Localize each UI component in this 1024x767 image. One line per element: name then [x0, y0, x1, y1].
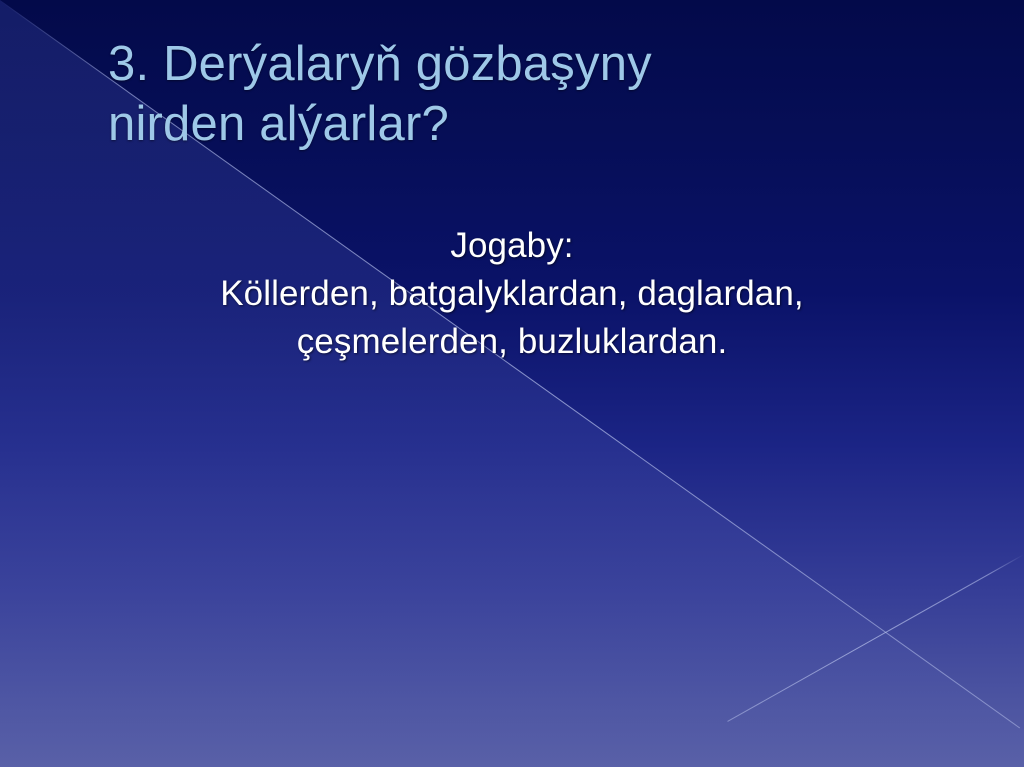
answer-label: Jogaby:	[62, 222, 962, 270]
answer-line-2: çeşmelerden, buzluklardan.	[62, 318, 962, 366]
answer-line-1: Köllerden, batgalyklardan, daglardan,	[62, 270, 962, 318]
slide-title-line-2: nirden alýarlar?	[108, 94, 958, 154]
slide-title-line-1: 3. Derýalaryň gözbaşyny	[108, 34, 958, 94]
presentation-slide: 3. Derýalaryň gözbaşyny nirden alýarlar?…	[0, 0, 1024, 767]
decorative-diagonal-line-ascending	[727, 554, 1024, 722]
slide-body: Jogaby: Köllerden, batgalyklardan, dagla…	[62, 222, 962, 366]
slide-title: 3. Derýalaryň gözbaşyny nirden alýarlar?	[108, 34, 958, 154]
